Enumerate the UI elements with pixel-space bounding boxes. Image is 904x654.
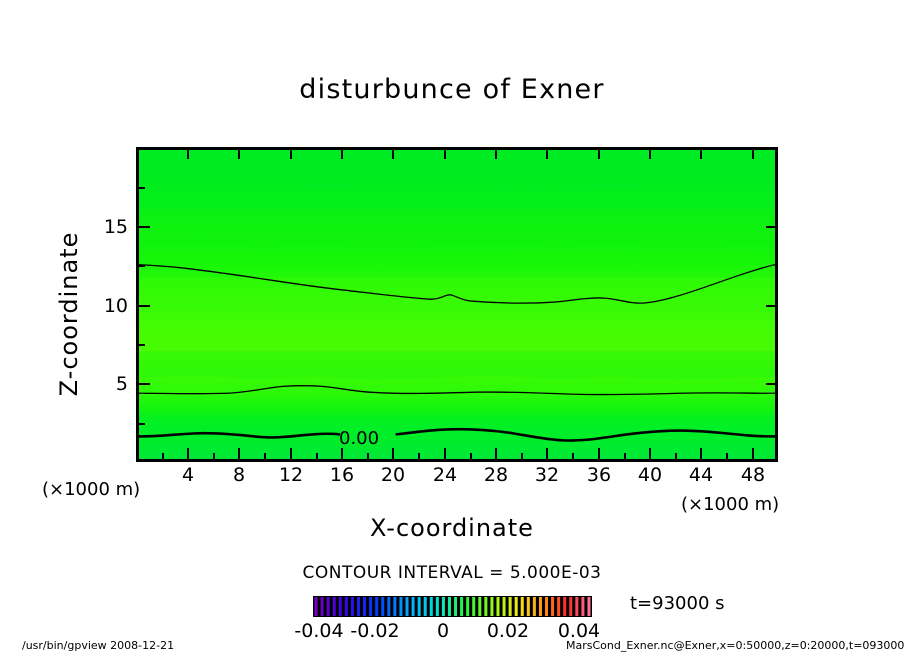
x-tick-label: 20 [373, 464, 413, 486]
x-axis-unit-left: (×1000 m) [42, 479, 140, 500]
x-tick-label: 16 [322, 464, 362, 486]
y-axis-title: Z-coordinate [55, 204, 83, 424]
x-tick-top [238, 147, 240, 159]
footer-dataset: MarsCond_Exner.nc@Exner,x=0:50000,z=0:20… [566, 639, 904, 652]
x-tick [290, 448, 292, 462]
y-tick-right [766, 226, 778, 228]
x-tick-top [495, 147, 497, 159]
page-title: disturbunce of Exner [0, 74, 904, 105]
x-tick-minor [675, 453, 677, 462]
x-tick [546, 448, 548, 462]
y-tick-label: 5 [90, 373, 128, 395]
x-tick-top [444, 147, 446, 159]
x-tick-minor [264, 453, 266, 462]
x-axis-title: X-coordinate [0, 514, 904, 542]
x-tick-label: 24 [425, 464, 465, 486]
x-axis-unit-right: (×1000 m) [681, 494, 779, 515]
contour-interval-caption: CONTOUR INTERVAL = 5.000E-03 [0, 563, 904, 583]
plot-area [136, 147, 778, 462]
colorbar-tick-label: -0.04 [291, 620, 347, 642]
x-tick-label: 28 [476, 464, 516, 486]
x-tick [238, 448, 240, 462]
y-tick [136, 305, 150, 307]
x-tick [700, 448, 702, 462]
x-tick-label: 44 [681, 464, 721, 486]
x-tick-label: 4 [168, 464, 208, 486]
y-tick-minor [136, 344, 145, 346]
y-tick [136, 383, 150, 385]
x-tick-minor [213, 453, 215, 462]
x-tick-minor [162, 453, 164, 462]
x-tick-minor [367, 453, 369, 462]
x-tick-minor [726, 453, 728, 462]
x-tick [598, 448, 600, 462]
y-tick [136, 226, 150, 228]
y-tick-right [766, 305, 778, 307]
time-stamp: t=93000 s [630, 593, 725, 614]
contour-level-label: 0.00 [339, 428, 379, 449]
colorbar-tick-label: 0.02 [480, 620, 536, 642]
x-tick [649, 448, 651, 462]
x-tick-top [752, 147, 754, 159]
x-tick-minor [521, 453, 523, 462]
y-tick-minor [136, 187, 145, 189]
x-tick-top [341, 147, 343, 159]
colorbar [313, 596, 592, 617]
x-tick-minor [470, 453, 472, 462]
x-tick [752, 448, 754, 462]
x-tick-minor [418, 453, 420, 462]
footer-command: /usr/bin/gpview 2008-12-21 [22, 639, 174, 652]
x-tick-top [290, 147, 292, 159]
x-tick-minor [624, 453, 626, 462]
colorbar-tick-label: 0 [425, 620, 461, 642]
x-tick-label: 8 [219, 464, 259, 486]
x-tick-top [598, 147, 600, 159]
x-tick-top [187, 147, 189, 159]
y-tick-minor [136, 265, 145, 267]
x-tick-label: 36 [579, 464, 619, 486]
x-tick [341, 448, 343, 462]
x-tick-top [700, 147, 702, 159]
y-tick-label: 15 [90, 216, 128, 238]
x-tick-minor [572, 453, 574, 462]
x-tick [495, 448, 497, 462]
x-tick-label: 48 [733, 464, 773, 486]
x-tick-label: 32 [527, 464, 567, 486]
contour-fill-field [139, 150, 775, 459]
x-tick-top [649, 147, 651, 159]
x-tick [187, 448, 189, 462]
y-tick-right [766, 383, 778, 385]
y-tick-label: 10 [90, 295, 128, 317]
x-tick-label: 40 [630, 464, 670, 486]
x-tick-minor [316, 453, 318, 462]
x-tick-label: 12 [271, 464, 311, 486]
x-tick [444, 448, 446, 462]
x-tick-top [392, 147, 394, 159]
x-tick [392, 448, 394, 462]
x-tick-top [546, 147, 548, 159]
y-tick-minor [136, 423, 145, 425]
colorbar-tick-label: -0.02 [347, 620, 403, 642]
